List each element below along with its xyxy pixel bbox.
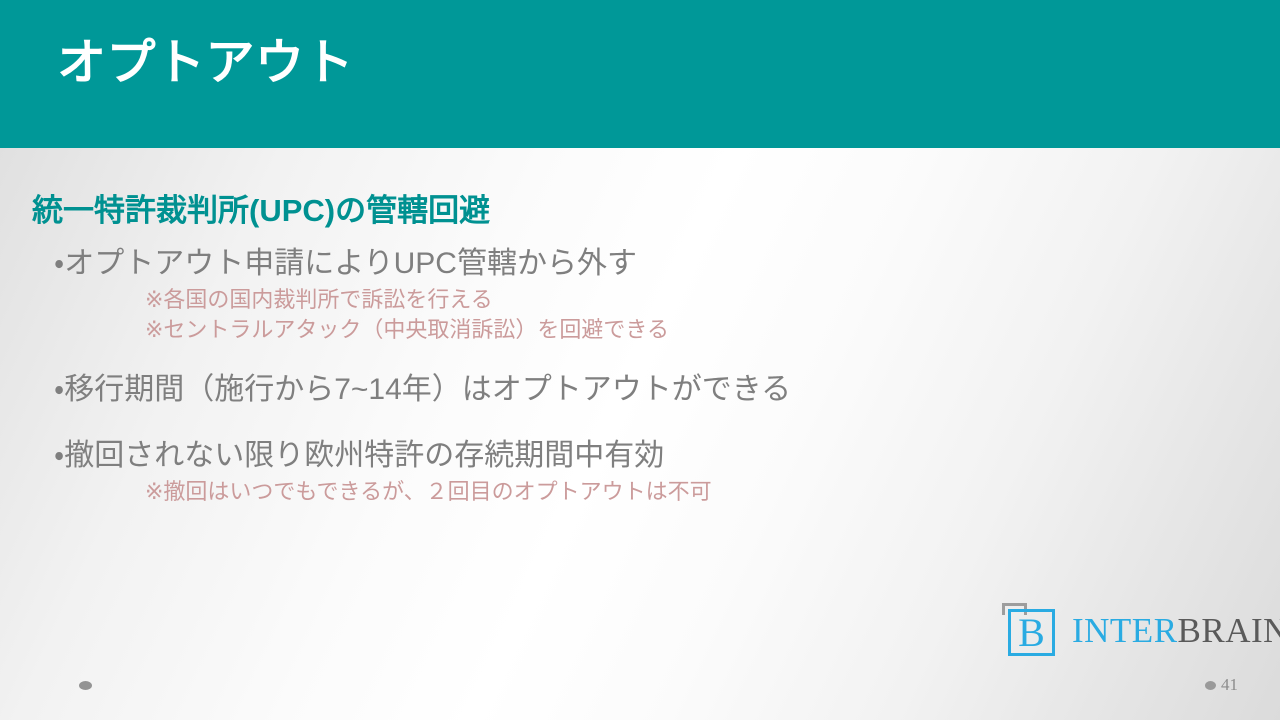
logo-letter-b: B (1008, 609, 1055, 656)
logo-mark-icon: B (999, 600, 1061, 662)
bullet-list: ・オプトアウト申請によりUPC管轄から外す ※各国の国内裁判所で訴訟を行える ※… (0, 243, 1280, 507)
section-heading: 統一特許裁判所(UPC)の管轄回避 (32, 193, 490, 229)
logo-word-inter: INTER (1072, 611, 1178, 650)
page-title: オプトアウト (57, 34, 354, 93)
logo-word-brain: BRAIN (1178, 611, 1280, 650)
bullet-item: ・移行期間（施行から7~14年）はオプトアウトができる (0, 369, 1280, 411)
bullet-block: ・移行期間（施行から7~14年）はオプトアウトができる (0, 369, 1280, 411)
page-marker: 41 (1205, 676, 1238, 694)
bullet-block: ・オプトアウト申請によりUPC管轄から外す ※各国の国内裁判所で訴訟を行える ※… (0, 243, 1280, 345)
bullet-note: ※セントラルアタック（中央取消訴訟）を回避できる (0, 315, 1280, 345)
bullet-item: ・オプトアウト申請によりUPC管轄から外す (0, 243, 1280, 285)
bullet-note: ※各国の国内裁判所で訴訟を行える (0, 285, 1280, 315)
bullet-item: ・撤回されない限り欧州特許の存続期間中有効 (0, 435, 1280, 477)
page-dot-icon (1205, 681, 1216, 690)
slide: オプトアウト 統一特許裁判所(UPC)の管轄回避 ・オプトアウト申請によりUPC… (0, 0, 1280, 720)
page-number: 41 (1221, 676, 1238, 694)
decorative-dot-icon (79, 681, 92, 690)
bullet-note: ※撤回はいつでもできるが、２回目のオプトアウトは不可 (0, 477, 1280, 507)
interbrain-logo: B INTERBRAIN (999, 600, 1261, 662)
title-band: オプトアウト (0, 0, 1280, 148)
bullet-block: ・撤回されない限り欧州特許の存続期間中有効 ※撤回はいつでもできるが、２回目のオ… (0, 435, 1280, 507)
logo-wordmark: INTERBRAIN (1072, 613, 1280, 649)
